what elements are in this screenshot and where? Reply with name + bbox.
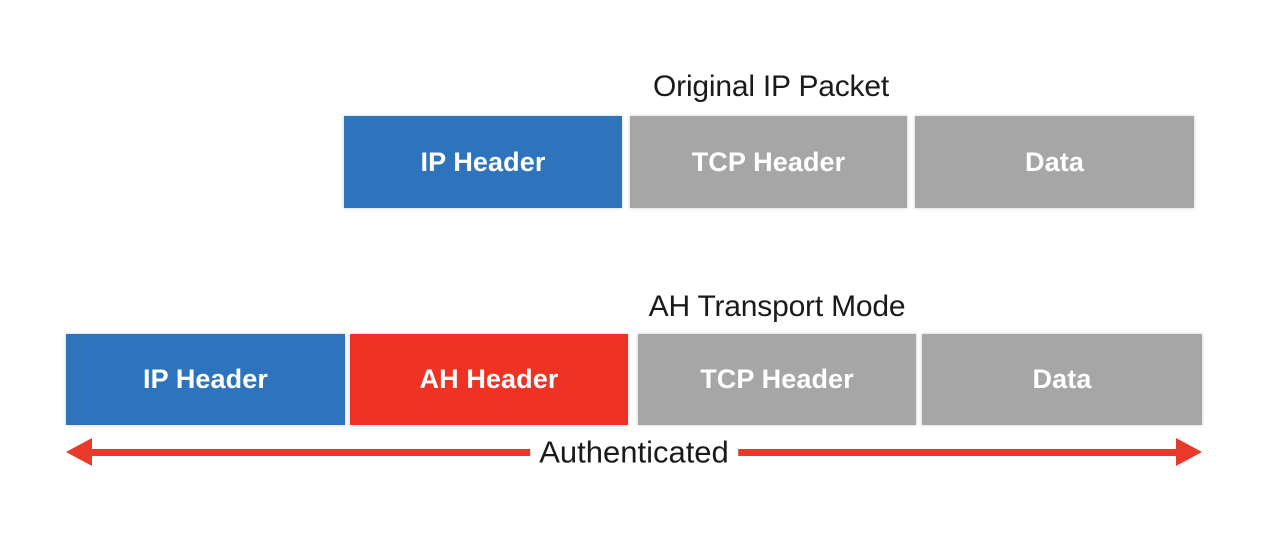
packet-field-ip-header: IP Header — [66, 334, 345, 425]
diagram-canvas: Original IP Packet IP Header TCP Header … — [0, 0, 1268, 554]
diagram-title-original-packet: Original IP Packet — [653, 72, 889, 102]
diagram-title-ah-transport-mode: AH Transport Mode — [649, 292, 906, 322]
packet-field-ip-header: IP Header — [344, 116, 622, 208]
packet-field-label: IP Header — [421, 149, 546, 176]
packet-field-label: TCP Header — [700, 366, 854, 393]
arrow-right-head-icon — [1176, 438, 1202, 466]
packet-field-label: TCP Header — [692, 149, 846, 176]
packet-field-label: Data — [1033, 366, 1092, 393]
packet-field-tcp-header: TCP Header — [630, 116, 907, 208]
packet-field-ah-header: AH Header — [350, 334, 628, 425]
packet-field-label: AH Header — [420, 366, 559, 393]
packet-field-label: Data — [1025, 149, 1084, 176]
authenticated-label: Authenticated — [530, 437, 738, 468]
authenticated-scope-arrow: Authenticated — [66, 432, 1202, 472]
packet-field-label: IP Header — [143, 366, 268, 393]
packet-field-data: Data — [915, 116, 1194, 208]
packet-field-tcp-header: TCP Header — [638, 334, 916, 425]
packet-field-data: Data — [922, 334, 1202, 425]
